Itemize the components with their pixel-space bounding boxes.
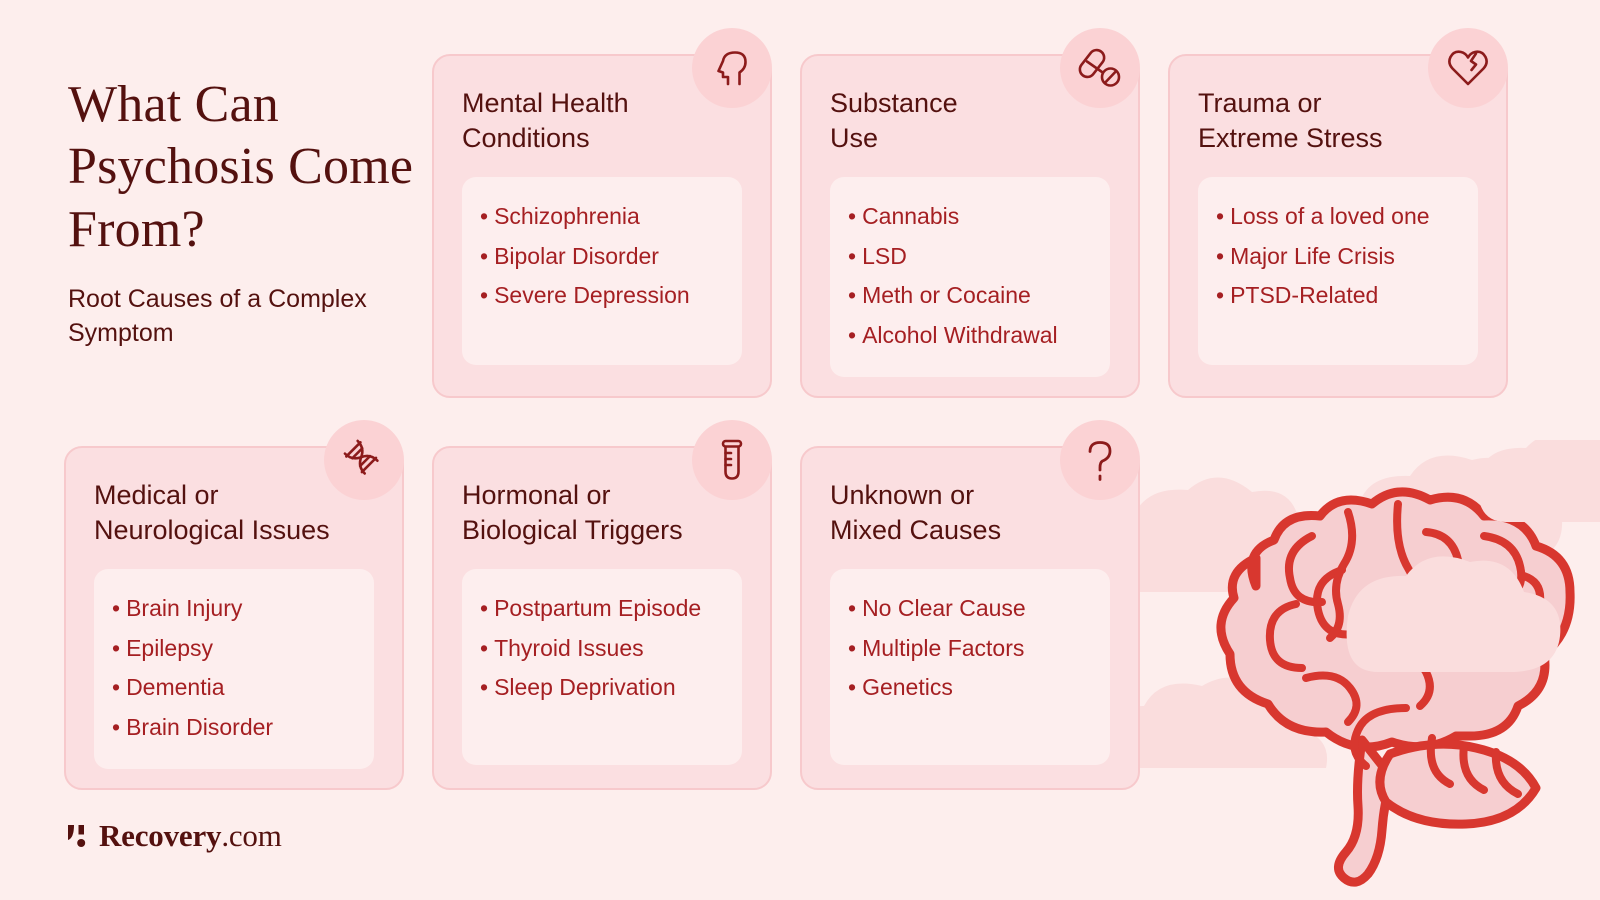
list-item: •Major Life Crisis bbox=[1216, 237, 1460, 277]
bullet-icon: • bbox=[112, 714, 120, 740]
bullet-icon: • bbox=[480, 674, 488, 700]
pills-icon bbox=[1060, 28, 1140, 108]
bullet-icon: • bbox=[848, 322, 856, 348]
card-list-panel: •Loss of a loved one •Major Life Crisis … bbox=[1198, 177, 1478, 365]
bullet-icon: • bbox=[480, 243, 488, 269]
test-tube-icon bbox=[692, 420, 772, 500]
list-item: •Cannabis bbox=[848, 197, 1092, 237]
leaf-mark-icon bbox=[66, 823, 90, 849]
bullet-icon: • bbox=[848, 282, 856, 308]
list-item-label: Cannabis bbox=[862, 203, 959, 229]
list-item-label: Bipolar Disorder bbox=[494, 243, 659, 269]
list-item-label: Brain Disorder bbox=[126, 714, 273, 740]
card-title: Trauma or Extreme Stress bbox=[1198, 86, 1478, 155]
list-item-label: LSD bbox=[862, 243, 907, 269]
list-item-label: Postpartum Episode bbox=[494, 595, 701, 621]
list-item: •Loss of a loved one bbox=[1216, 197, 1460, 237]
list-item-label: Genetics bbox=[862, 674, 953, 700]
list-item: •Genetics bbox=[848, 668, 1092, 708]
bullet-icon: • bbox=[480, 595, 488, 621]
list-item-label: PTSD-Related bbox=[1230, 282, 1378, 308]
recovery-logo[interactable]: Recovery.com bbox=[66, 818, 282, 854]
card-title: Unknown or Mixed Causes bbox=[830, 478, 1110, 547]
card-title: Medical or Neurological Issues bbox=[94, 478, 374, 547]
card-list-panel: •No Clear Cause •Multiple Factors •Genet… bbox=[830, 569, 1110, 765]
list-item-label: Major Life Crisis bbox=[1230, 243, 1395, 269]
card-list-panel: •Brain Injury •Epilepsy •Dementia •Brain… bbox=[94, 569, 374, 769]
list-item-label: Thyroid Issues bbox=[494, 635, 644, 661]
list-item: •Alcohol Withdrawal bbox=[848, 316, 1092, 356]
list-item-label: Sleep Deprivation bbox=[494, 674, 676, 700]
bullet-icon: • bbox=[848, 674, 856, 700]
list-item: •Multiple Factors bbox=[848, 629, 1092, 669]
card-list-panel: •Postpartum Episode •Thyroid Issues •Sle… bbox=[462, 569, 742, 765]
list-item-label: Meth or Cocaine bbox=[862, 282, 1031, 308]
bullet-icon: • bbox=[848, 203, 856, 229]
bullet-icon: • bbox=[848, 595, 856, 621]
list-item: •PTSD-Related bbox=[1216, 276, 1460, 316]
card-title: Hormonal or Biological Triggers bbox=[462, 478, 742, 547]
broken-heart-icon bbox=[1428, 28, 1508, 108]
head-profile-icon bbox=[692, 28, 772, 108]
list-item: •Bipolar Disorder bbox=[480, 237, 724, 277]
list-item: •Brain Injury bbox=[112, 589, 356, 629]
bullet-icon: • bbox=[112, 674, 120, 700]
bullet-icon: • bbox=[1216, 243, 1224, 269]
list-item: •Epilepsy bbox=[112, 629, 356, 669]
logo-tld: .com bbox=[221, 818, 281, 853]
bullet-icon: • bbox=[1216, 203, 1224, 229]
list-item: •Thyroid Issues bbox=[480, 629, 724, 669]
bullet-icon: • bbox=[848, 635, 856, 661]
list-item-label: Epilepsy bbox=[126, 635, 213, 661]
bullet-icon: • bbox=[112, 595, 120, 621]
bullet-icon: • bbox=[1216, 282, 1224, 308]
list-item: •No Clear Cause bbox=[848, 589, 1092, 629]
list-item: •Dementia bbox=[112, 668, 356, 708]
list-item-label: Multiple Factors bbox=[862, 635, 1024, 661]
bullet-icon: • bbox=[480, 635, 488, 661]
list-item-label: No Clear Cause bbox=[862, 595, 1026, 621]
list-item-label: Schizophrenia bbox=[494, 203, 640, 229]
card-title: Mental Health Conditions bbox=[462, 86, 742, 155]
card-list-panel: •Schizophrenia •Bipolar Disorder •Severe… bbox=[462, 177, 742, 365]
list-item: •LSD bbox=[848, 237, 1092, 277]
bullet-icon: • bbox=[112, 635, 120, 661]
card-grid: Mental Health Conditions •Schizophrenia … bbox=[0, 0, 1600, 900]
list-item-label: Loss of a loved one bbox=[1230, 203, 1429, 229]
list-item: •Schizophrenia bbox=[480, 197, 724, 237]
bullet-icon: • bbox=[480, 203, 488, 229]
list-item-label: Brain Injury bbox=[126, 595, 242, 621]
logo-name: Recovery bbox=[99, 818, 221, 853]
list-item: •Postpartum Episode bbox=[480, 589, 724, 629]
bullet-icon: • bbox=[480, 282, 488, 308]
list-item: •Sleep Deprivation bbox=[480, 668, 724, 708]
question-mark-icon bbox=[1060, 420, 1140, 500]
list-item: •Severe Depression bbox=[480, 276, 724, 316]
list-item-label: Dementia bbox=[126, 674, 224, 700]
card-list-panel: •Cannabis •LSD •Meth or Cocaine •Alcohol… bbox=[830, 177, 1110, 377]
list-item-label: Severe Depression bbox=[494, 282, 690, 308]
list-item: •Meth or Cocaine bbox=[848, 276, 1092, 316]
list-item: •Brain Disorder bbox=[112, 708, 356, 748]
dna-icon bbox=[324, 420, 404, 500]
list-item-label: Alcohol Withdrawal bbox=[862, 322, 1058, 348]
card-title: Substance Use bbox=[830, 86, 1110, 155]
bullet-icon: • bbox=[848, 243, 856, 269]
logo-wordmark: Recovery.com bbox=[99, 818, 282, 854]
